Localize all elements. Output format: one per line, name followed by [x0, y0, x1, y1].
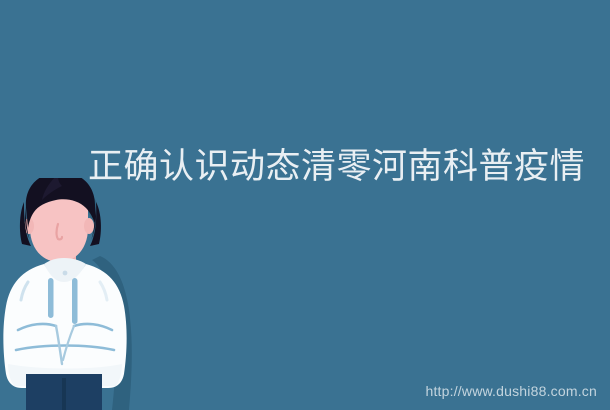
poster-canvas: 正确认识动态清零河南科普疫情 http://www.dushi88.com.cn — [0, 0, 610, 410]
ear-right — [84, 218, 94, 234]
watermark-url: http://www.dushi88.com.cn — [425, 383, 597, 399]
hoodie-button — [63, 271, 68, 276]
boy-illustration-svg — [0, 178, 140, 410]
drawstring-left — [48, 278, 54, 318]
boy-illustration — [0, 178, 140, 410]
page-title: 正确认识动态清零河南科普疫情 — [88, 145, 548, 189]
pants-center-seam — [62, 378, 66, 410]
drawstring-right — [72, 278, 78, 324]
